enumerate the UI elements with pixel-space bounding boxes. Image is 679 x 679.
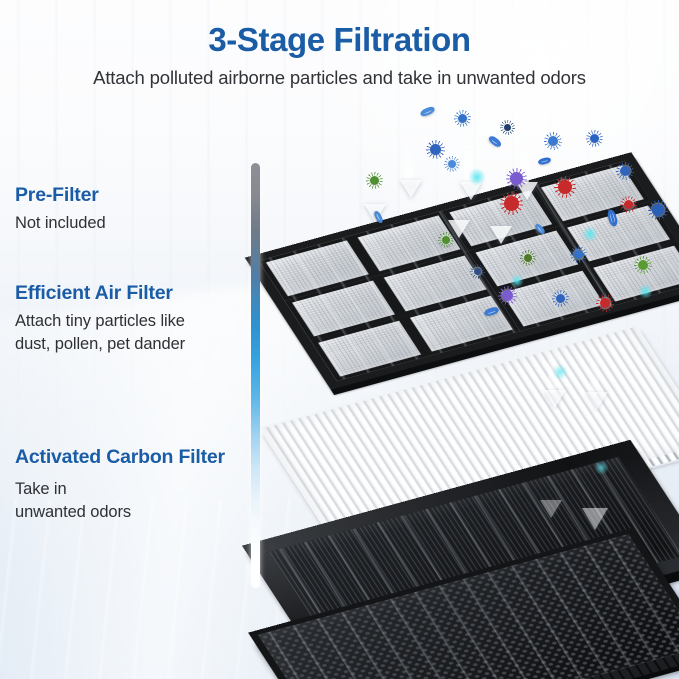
infographic-canvas: 3-Stage Filtration Attach polluted airbo… — [0, 0, 679, 679]
particle-virus — [502, 290, 513, 301]
stage-title: Efficient Air Filter — [15, 281, 247, 306]
particle-virus — [504, 124, 511, 131]
airflow-arrow — [544, 390, 566, 408]
particle-bacterium — [487, 134, 502, 148]
particle-virus — [524, 254, 532, 262]
particle-virus — [448, 160, 456, 168]
stage-title: Pre-Filter — [15, 183, 247, 208]
particle-glow — [582, 226, 598, 242]
particle-glow — [552, 364, 568, 380]
stage-description-line: unwanted odors — [15, 501, 247, 524]
particle-virus — [558, 180, 572, 194]
airflow-arrow — [586, 392, 608, 410]
stage-description-line: Not included — [15, 212, 247, 235]
stage-description: Take in unwanted odors — [15, 470, 247, 524]
stage-description-line: Take in — [15, 478, 247, 501]
particle-virus — [442, 236, 450, 244]
particle-virus — [590, 134, 599, 143]
airflow-arrow — [490, 226, 512, 244]
particle-virus — [556, 294, 565, 303]
particle-glow — [510, 274, 524, 288]
page-subtitle: Attach polluted airborne particles and t… — [0, 59, 679, 89]
particle-virus — [574, 250, 583, 259]
particle-glow — [594, 460, 609, 475]
vertical-divider-bar — [251, 163, 260, 588]
stage-title: Activated Carbon Filter — [15, 445, 247, 470]
stage-block-activated-carbon-filter: Activated Carbon Filter Take in unwanted… — [15, 445, 247, 524]
header: 3-Stage Filtration Attach polluted airbo… — [0, 0, 679, 89]
particle-virus — [600, 298, 610, 308]
particle-virus — [458, 114, 467, 123]
particle-virus — [510, 172, 523, 185]
airflow-tail — [590, 346, 599, 394]
particle-virus — [430, 144, 441, 155]
stage-description-line: dust, pollen, pet dander — [15, 333, 247, 356]
particle-glow — [468, 168, 486, 186]
particle-virus — [548, 136, 558, 146]
stage-description: Attach tiny particles like dust, pollen,… — [15, 306, 247, 356]
particle-virus — [624, 200, 633, 209]
particle-bacterium — [537, 157, 551, 166]
airflow-arrow — [540, 500, 562, 518]
stage-block-efficient-air-filter: Efficient Air Filter Attach tiny particl… — [15, 281, 247, 356]
honeycomb-side — [332, 647, 679, 679]
particle-virus — [652, 204, 664, 216]
particle-virus — [638, 260, 648, 270]
page-title: 3-Stage Filtration — [0, 0, 679, 59]
particle-glow — [638, 284, 653, 299]
exploded-filter-stack — [252, 108, 679, 679]
particle-virus — [474, 268, 481, 275]
airflow-arrow — [582, 508, 608, 530]
airflow-tail — [404, 130, 413, 182]
stage-block-pre-filter: Pre-Filter Not included — [15, 183, 247, 235]
airflow-arrow — [400, 180, 422, 198]
particle-bacterium — [419, 105, 436, 117]
particle-virus — [370, 176, 379, 185]
particle-virus — [620, 166, 630, 176]
particle-virus — [504, 196, 519, 211]
stage-description-line: Attach tiny particles like — [15, 310, 247, 333]
stage-description: Not included — [15, 208, 247, 235]
